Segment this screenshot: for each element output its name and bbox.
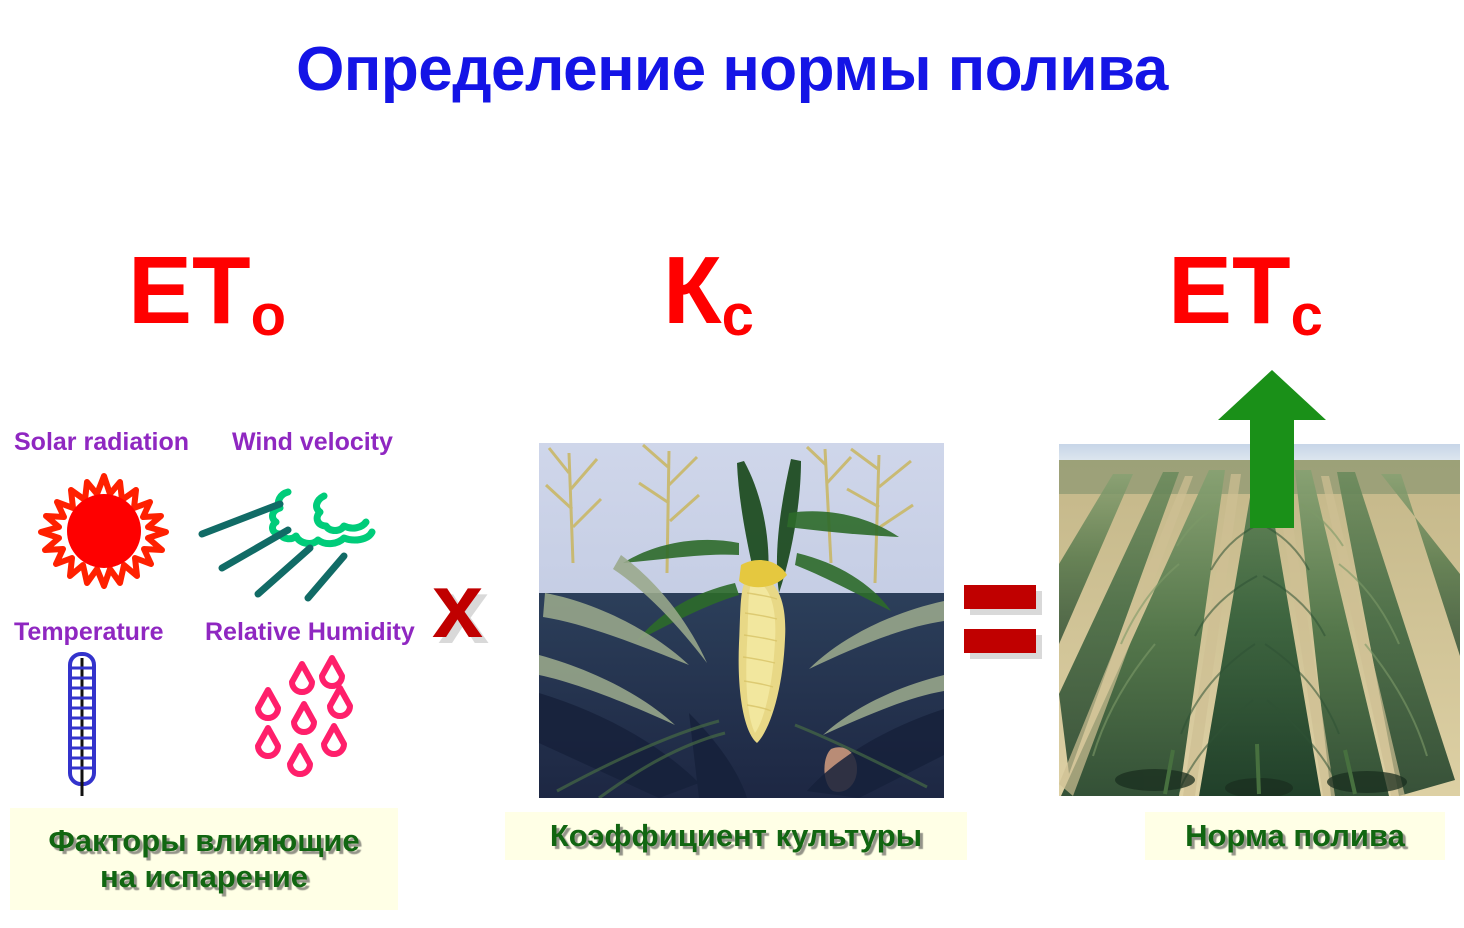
page-title: Определение нормы полива bbox=[0, 34, 1464, 105]
relative-humidity-label: Relative Humidity bbox=[205, 618, 415, 647]
formula-etc-base: ET bbox=[1168, 237, 1291, 344]
evaporation-factors-panel: Solar radiation Wind velocity Temperatur… bbox=[0, 418, 410, 808]
sun-icon bbox=[30, 468, 178, 613]
water-droplets-icon bbox=[240, 652, 360, 787]
caption-irrigation-norm-text: Норма полива bbox=[1185, 818, 1405, 854]
caption-evaporation-factors: Факторы влияющие на испарение bbox=[10, 808, 398, 910]
up-arrow-icon bbox=[1216, 368, 1328, 528]
formula-etc: ETc bbox=[1168, 243, 1323, 339]
solar-radiation-label: Solar radiation bbox=[14, 428, 189, 457]
formula-kc-subscript: c bbox=[722, 283, 754, 348]
equals-operator bbox=[964, 585, 1036, 653]
corn-closeup-photo bbox=[539, 443, 944, 798]
caption-crop-coefficient: Коэффициент культуры bbox=[505, 812, 967, 860]
caption-crop-coefficient-text: Коэффициент культуры bbox=[550, 818, 922, 854]
caption-evaporation-factors-text: Факторы влияющие на испарение bbox=[48, 823, 359, 895]
formula-eto: ETo bbox=[128, 243, 286, 339]
wind-velocity-label: Wind velocity bbox=[232, 428, 393, 457]
formula-eto-base: ET bbox=[128, 237, 251, 344]
thermometer-icon bbox=[60, 650, 104, 803]
multiply-operator: x bbox=[432, 560, 483, 652]
formula-eto-subscript: o bbox=[251, 283, 286, 348]
formula-kc-base: К bbox=[663, 237, 722, 344]
wind-icon bbox=[196, 474, 406, 607]
temperature-label: Temperature bbox=[14, 618, 164, 647]
equals-bar-bottom bbox=[964, 629, 1036, 653]
equals-bar-top bbox=[964, 585, 1036, 609]
caption-irrigation-norm: Норма полива bbox=[1145, 812, 1445, 860]
formula-etc-subscript: c bbox=[1291, 283, 1323, 348]
formula-kc: Кc bbox=[663, 243, 754, 339]
